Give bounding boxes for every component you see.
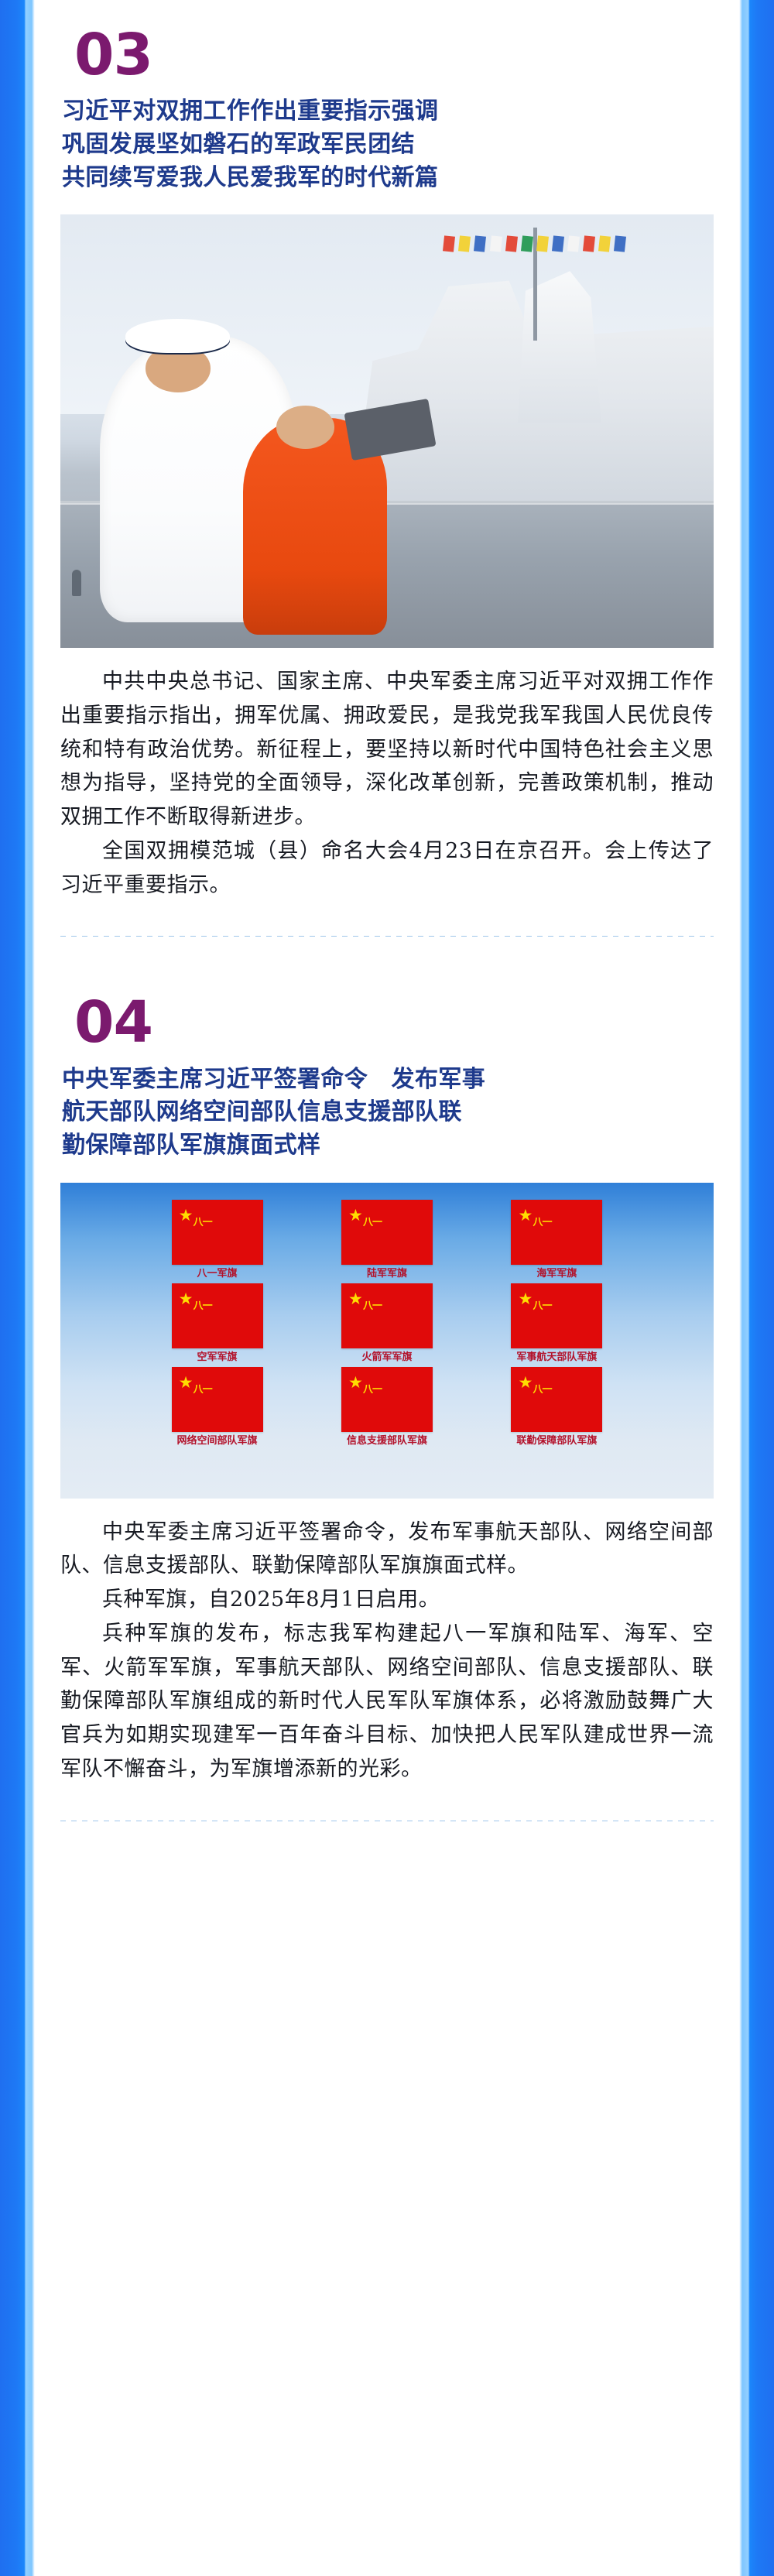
military-flags-chart: ★八一八一军旗★八一陆军军旗★八一海军军旗★八一空军军旗★八一火箭军军旗★八一军… (60, 1183, 714, 1499)
photo-signal-flags (440, 236, 662, 331)
flag-label: 陆军军旗 (367, 1269, 407, 1279)
star-icon: ★ (348, 1207, 363, 1224)
bayi-characters: 八一 (363, 1384, 382, 1394)
bayi-characters: 八一 (363, 1217, 382, 1227)
star-icon: ★ (179, 1291, 193, 1307)
section-title-line: 勤保障部队军旗旗面式样 (62, 1129, 714, 1163)
flag-label: 海军军旗 (536, 1269, 577, 1279)
star-icon: ★ (518, 1375, 533, 1391)
paragraph: 中共中央总书记、国家主席、中央军委主席习近平对双拥工作作出重要指示指出，拥军优属… (60, 665, 714, 834)
article-page: 03 习近平对双拥工作作出重要指示强调 巩固发展坚如磐石的军政军民团结 共同续写… (0, 0, 774, 2576)
section-title-03: 习近平对双拥工作作出重要指示强调 巩固发展坚如磐石的军政军民团结 共同续写爱我人… (60, 95, 714, 194)
section-title-line: 共同续写爱我人民爱我军的时代新篇 (62, 162, 714, 195)
bayi-characters: 八一 (193, 1384, 212, 1394)
section-title-line: 中央军委主席习近平签署命令 发布军事 (62, 1064, 714, 1097)
flag-cell: ★八一军事航天部队军旗 (472, 1283, 642, 1362)
flag-label: 联勤保障部队军旗 (516, 1436, 597, 1446)
flag-label: 火箭军军旗 (361, 1352, 412, 1362)
section-03: 03 习近平对双拥工作作出重要指示强调 巩固发展坚如磐石的军政军民团结 共同续写… (60, 0, 714, 968)
flag-cell: ★八一火箭军军旗 (302, 1283, 471, 1362)
paragraph: 兵种军旗，自2025年8月1日启用。 (60, 1583, 714, 1617)
flag-cell: ★八一联勤保障部队军旗 (472, 1367, 642, 1446)
star-icon: ★ (518, 1207, 533, 1224)
flag-swatch: ★八一 (341, 1283, 433, 1348)
bayi-characters: 八一 (193, 1300, 212, 1310)
paragraph: 兵种军旗的发布，标志我军构建起八一军旗和陆军、海军、空军、火箭军军旗，军事航天部… (60, 1617, 714, 1786)
navy-photo (60, 214, 714, 648)
flag-swatch: ★八一 (172, 1200, 263, 1265)
star-icon: ★ (179, 1375, 193, 1391)
flag-cell: ★八一信息支援部队军旗 (302, 1367, 471, 1446)
flag-cell: ★八一陆军军旗 (302, 1200, 471, 1279)
flag-cell: ★八一网络空间部队军旗 (132, 1367, 302, 1446)
flag-swatch: ★八一 (172, 1283, 263, 1348)
section-title-04: 中央军委主席习近平签署命令 发布军事 航天部队网络空间部队信息支援部队联 勤保障… (60, 1064, 714, 1163)
flag-swatch: ★八一 (511, 1283, 602, 1348)
bayi-characters: 八一 (193, 1217, 212, 1227)
flag-cell: ★八一八一军旗 (132, 1200, 302, 1279)
section-title-line: 航天部队网络空间部队信息支援部队联 (62, 1096, 714, 1129)
bayi-characters: 八一 (533, 1300, 551, 1310)
flag-swatch: ★八一 (172, 1367, 263, 1432)
bayi-characters: 八一 (533, 1217, 551, 1227)
paragraph: 中央军委主席习近平签署命令，发布军事航天部队、网络空间部队、信息支援部队、联勤保… (60, 1516, 714, 1583)
bayi-characters: 八一 (533, 1384, 551, 1394)
flag-label: 网络空间部队军旗 (177, 1436, 258, 1446)
section-title-line: 巩固发展坚如磐石的军政军民团结 (62, 128, 714, 162)
flag-label: 信息支援部队军旗 (347, 1436, 427, 1446)
article-content: 03 习近平对双拥工作作出重要指示强调 巩固发展坚如磐石的军政军民团结 共同续写… (0, 0, 774, 1852)
flag-swatch: ★八一 (341, 1367, 433, 1432)
star-icon: ★ (518, 1291, 533, 1307)
star-icon: ★ (348, 1375, 363, 1391)
flag-swatch: ★八一 (511, 1367, 602, 1432)
star-icon: ★ (348, 1291, 363, 1307)
photo-officer-cap (125, 319, 230, 354)
photo-child-head (276, 406, 335, 449)
flag-cell: ★八一海军军旗 (472, 1200, 642, 1279)
paragraph: 全国双拥模范城（县）命名大会4月23日在京召开。会上传达了习近平重要指示。 (60, 834, 714, 902)
bayi-characters: 八一 (363, 1300, 382, 1310)
flags-grid: ★八一八一军旗★八一陆军军旗★八一海军军旗★八一空军军旗★八一火箭军军旗★八一军… (132, 1200, 642, 1446)
flag-label: 军事航天部队军旗 (516, 1352, 597, 1362)
star-icon: ★ (179, 1207, 193, 1224)
section-number-03: 03 (60, 26, 714, 84)
flag-cell: ★八一空军军旗 (132, 1283, 302, 1362)
section-03-body: 中共中央总书记、国家主席、中央军委主席习近平对双拥工作作出重要指示指出，拥军优属… (60, 665, 714, 902)
section-04-body: 中央军委主席习近平签署命令，发布军事航天部队、网络空间部队、信息支援部队、联勤保… (60, 1516, 714, 1786)
flag-label: 空军军旗 (197, 1352, 238, 1362)
flag-swatch: ★八一 (341, 1200, 433, 1265)
section-number-04: 04 (60, 994, 714, 1052)
flag-swatch: ★八一 (511, 1200, 602, 1265)
section-04: 04 中央军委主席习近平签署命令 发布军事 航天部队网络空间部队信息支援部队联 … (60, 968, 714, 1851)
section-title-line: 习近平对双拥工作作出重要指示强调 (62, 95, 714, 128)
flag-label: 八一军旗 (197, 1269, 238, 1279)
